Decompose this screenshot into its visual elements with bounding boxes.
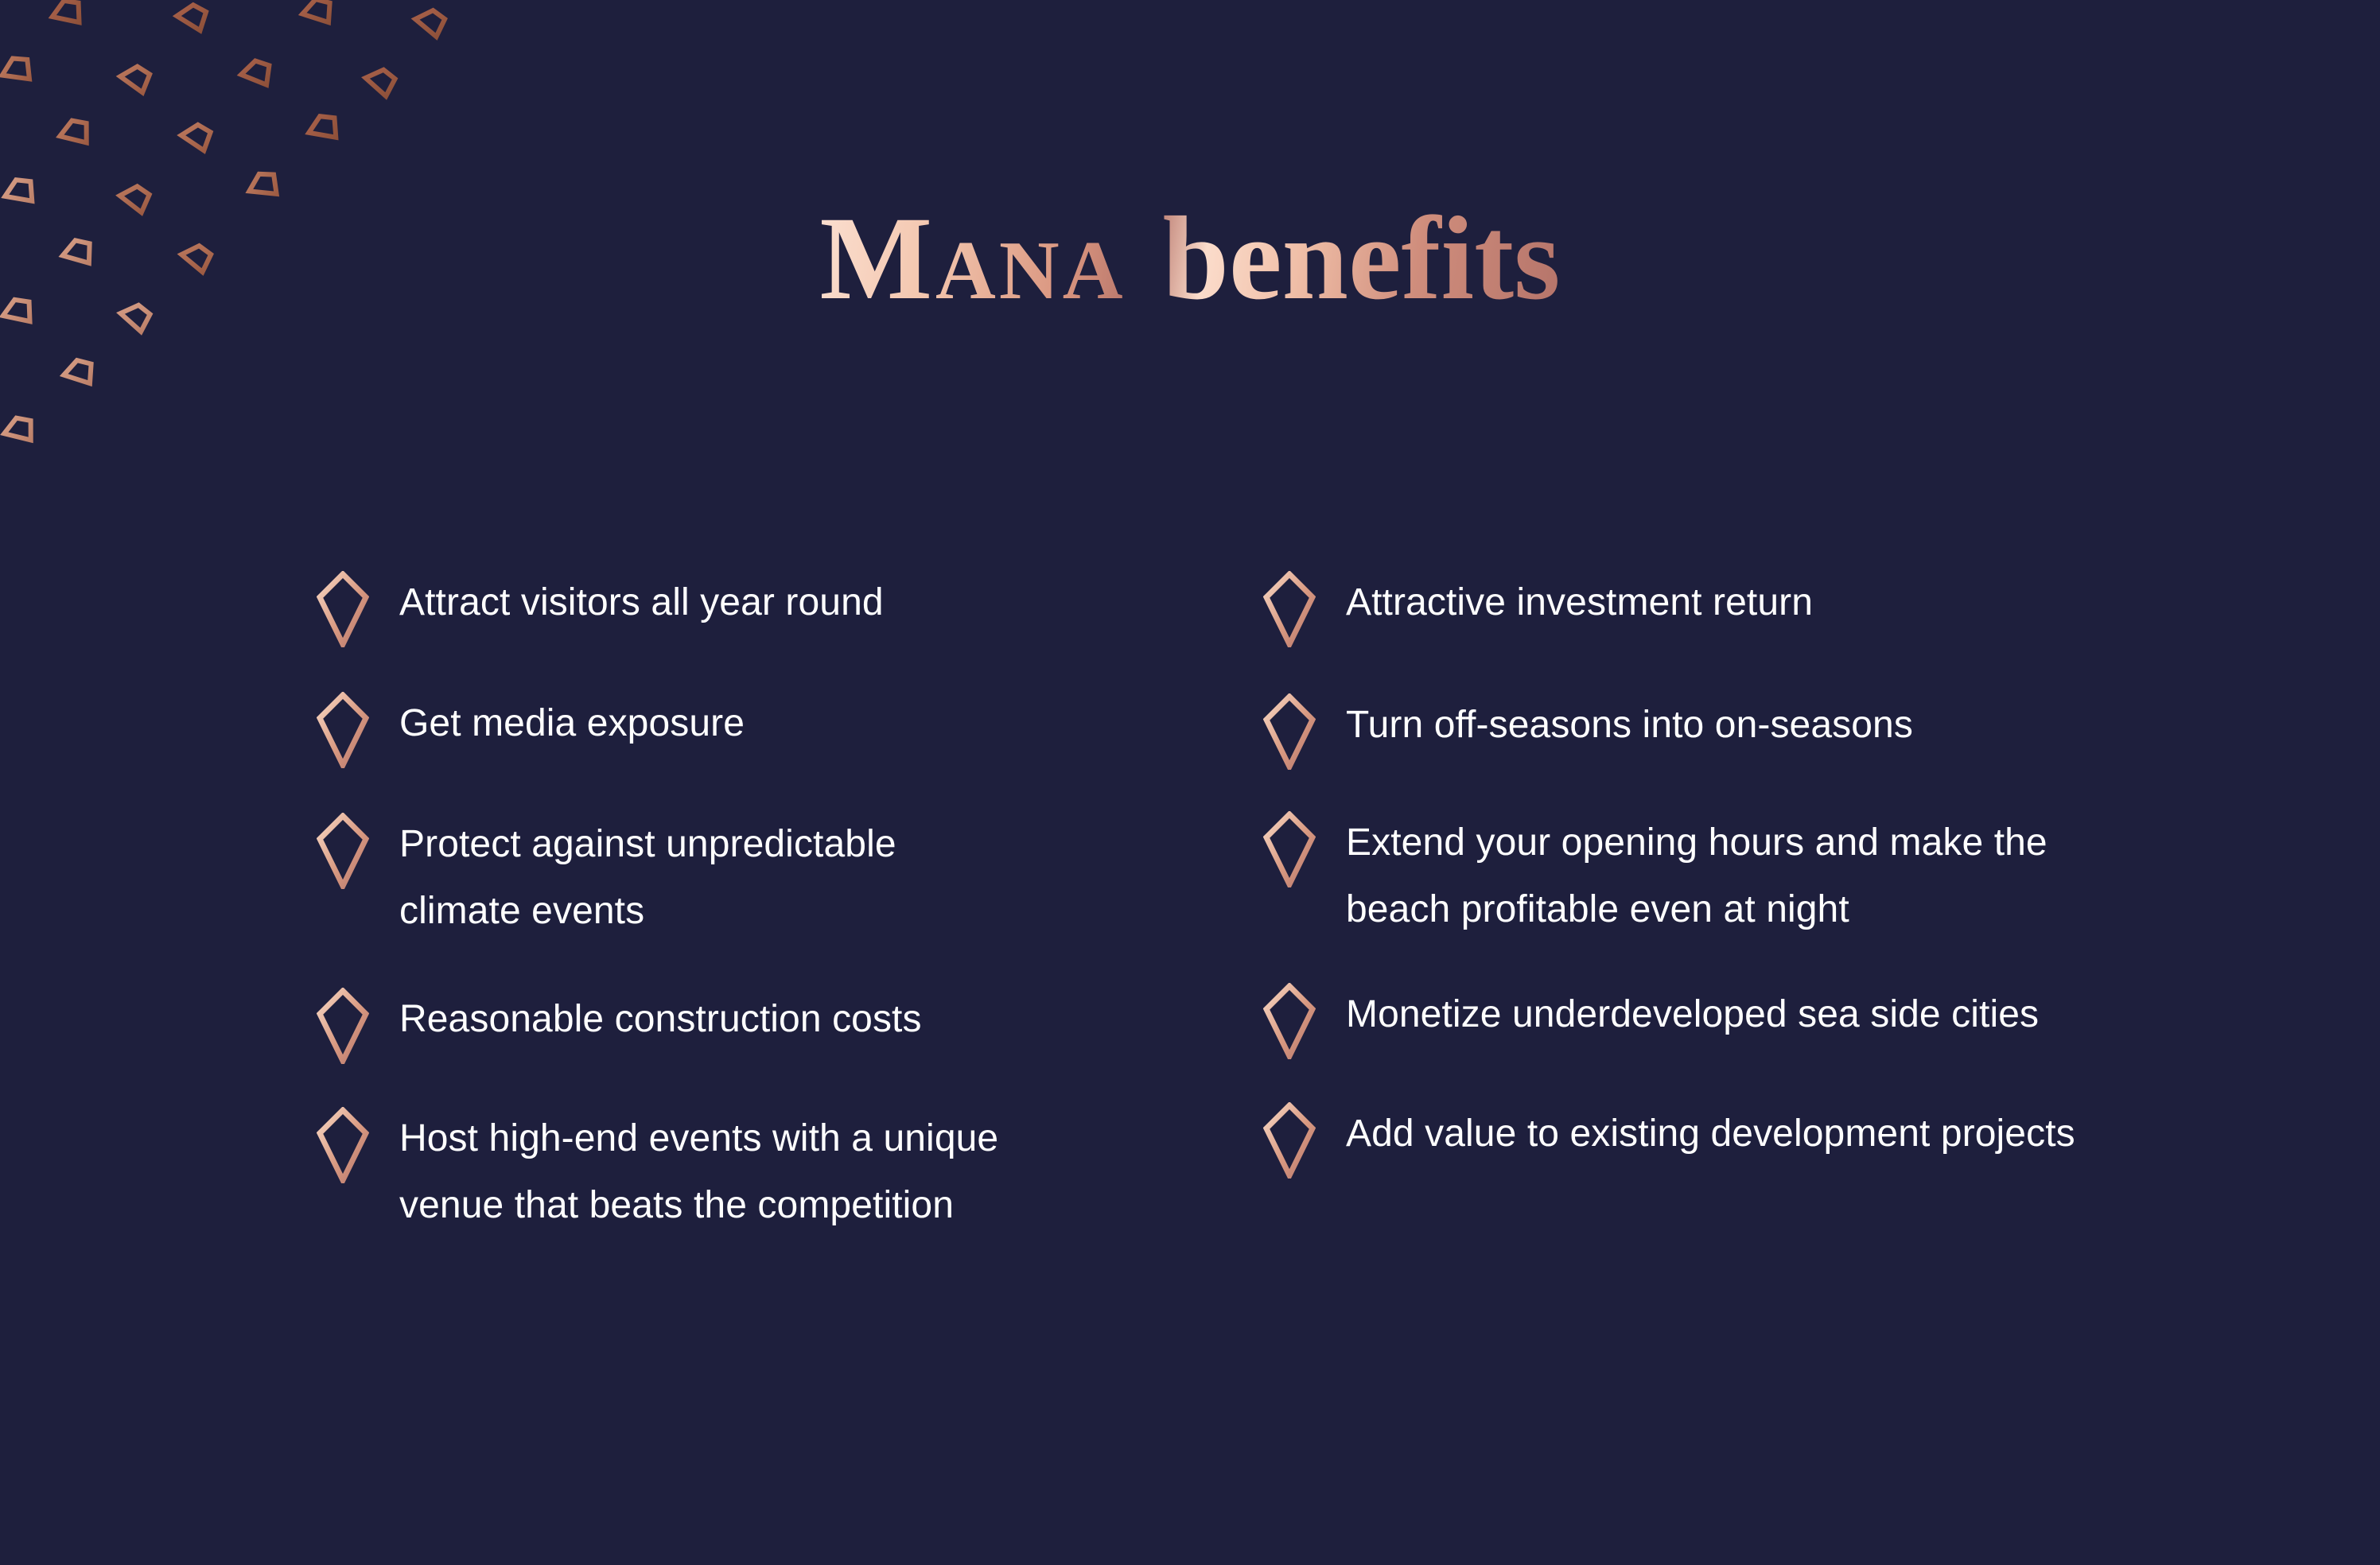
list-item-label: Host high-end events with a unique venue… <box>399 1105 998 1239</box>
page-title: Manabenefits <box>819 199 1560 318</box>
list-item: Monetize underdeveloped sea side cities <box>1263 981 2321 1059</box>
page-title-word-two: benefits <box>1163 192 1561 324</box>
title-block: Manabenefits <box>0 199 2380 318</box>
kite-diamond-icon <box>317 571 369 647</box>
kite-diamond-icon <box>317 813 369 889</box>
list-item-label: Attractive investment return <box>1346 569 1813 636</box>
kite-diamond-icon <box>317 988 369 1064</box>
list-item: Attractive investment return <box>1263 569 2321 647</box>
list-item: Reasonable construction costs <box>317 986 1263 1064</box>
list-item: Attract visitors all year round <box>317 569 1263 647</box>
kite-diamond-icon <box>1263 983 1316 1059</box>
list-item-label: Get media exposure <box>399 690 745 757</box>
page-title-word-one: Mana <box>819 192 1126 324</box>
list-item-label: Protect against unpredictable climate ev… <box>399 811 896 945</box>
benefits-left-column: Attract visitors all year round Get medi… <box>317 569 1263 1239</box>
list-item-label: Turn off-seasons into on-seasons <box>1346 692 1913 759</box>
list-item: Protect against unpredictable climate ev… <box>317 811 1263 945</box>
list-item-label: Monetize underdeveloped sea side cities <box>1346 981 2039 1048</box>
kite-diamond-icon <box>317 692 369 768</box>
kite-diamond-icon <box>317 1107 369 1183</box>
list-item-label: Attract visitors all year round <box>399 569 884 636</box>
list-item: Extend your opening hours and make the b… <box>1263 810 2321 943</box>
list-item-label: Add value to existing development projec… <box>1346 1101 2075 1167</box>
list-item: Get media exposure <box>317 690 1263 768</box>
list-item-label: Extend your opening hours and make the b… <box>1346 810 2047 943</box>
list-item-label: Reasonable construction costs <box>399 986 922 1053</box>
kite-diamond-icon <box>1263 811 1316 887</box>
benefits-section: Attract visitors all year round Get medi… <box>0 569 2380 1239</box>
list-item: Add value to existing development projec… <box>1263 1101 2321 1179</box>
kite-diamond-icon <box>1263 571 1316 647</box>
list-item: Host high-end events with a unique venue… <box>317 1105 1263 1239</box>
kite-diamond-icon <box>1263 1102 1316 1179</box>
benefits-right-column: Attractive investment return Turn off-se… <box>1263 569 2321 1239</box>
kite-diamond-icon <box>1263 693 1316 770</box>
list-item: Turn off-seasons into on-seasons <box>1263 692 2321 770</box>
